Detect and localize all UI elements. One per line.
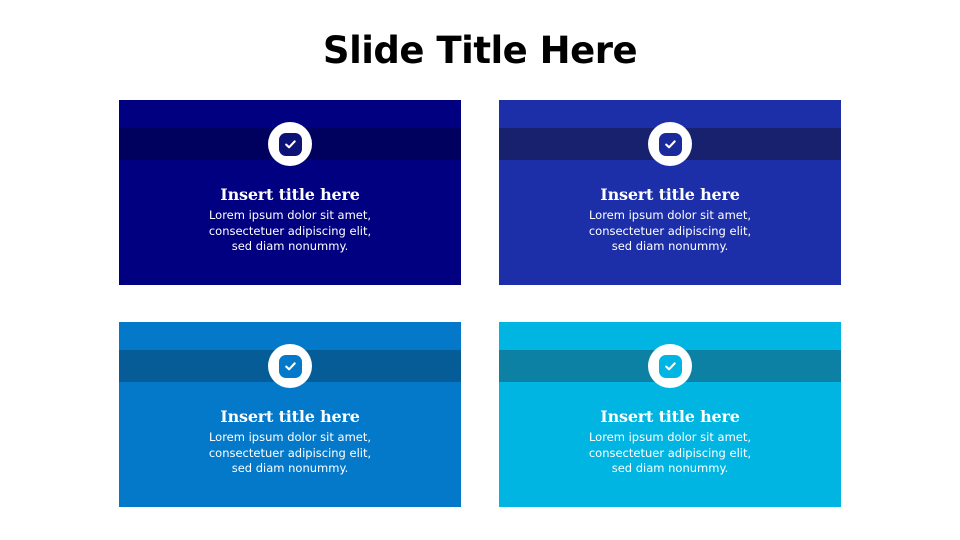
card-desc-line-1: Lorem ipsum dolor sit amet, bbox=[137, 208, 443, 224]
card-desc-line-3: sed diam nonummy. bbox=[517, 461, 823, 477]
cards-grid: Insert title here Lorem ipsum dolor sit … bbox=[119, 100, 841, 507]
card-desc-line-2: consectetuer adipiscing elit, bbox=[517, 446, 823, 462]
card-desc-line-1: Lorem ipsum dolor sit amet, bbox=[137, 430, 443, 446]
feature-card-4[interactable]: Insert title here Lorem ipsum dolor sit … bbox=[499, 322, 841, 507]
card-description-1: Lorem ipsum dolor sit amet, consectetuer… bbox=[137, 208, 443, 255]
card-description-2: Lorem ipsum dolor sit amet, consectetuer… bbox=[517, 208, 823, 255]
check-badge-inner-3 bbox=[279, 355, 302, 378]
check-circle-icon-4 bbox=[648, 344, 692, 388]
check-mark-icon-3 bbox=[284, 360, 297, 373]
slide-canvas: Slide Title Here Insert title here Lorem… bbox=[0, 0, 960, 540]
card-desc-line-2: consectetuer adipiscing elit, bbox=[517, 224, 823, 240]
card-desc-line-1: Lorem ipsum dolor sit amet, bbox=[517, 208, 823, 224]
check-badge-inner-1 bbox=[279, 133, 302, 156]
check-circle-icon-2 bbox=[648, 122, 692, 166]
check-circle-icon-1 bbox=[268, 122, 312, 166]
card-text-block-2: Insert title here Lorem ipsum dolor sit … bbox=[499, 184, 841, 255]
card-text-block-1: Insert title here Lorem ipsum dolor sit … bbox=[119, 184, 461, 255]
card-desc-line-3: sed diam nonummy. bbox=[517, 239, 823, 255]
check-mark-icon-1 bbox=[284, 138, 297, 151]
card-title-4: Insert title here bbox=[517, 406, 823, 427]
page-title: Slide Title Here bbox=[0, 28, 960, 74]
check-badge-inner-2 bbox=[659, 133, 682, 156]
card-title-1: Insert title here bbox=[137, 184, 443, 205]
card-title-3: Insert title here bbox=[137, 406, 443, 427]
card-title-2: Insert title here bbox=[517, 184, 823, 205]
feature-card-3[interactable]: Insert title here Lorem ipsum dolor sit … bbox=[119, 322, 461, 507]
card-description-3: Lorem ipsum dolor sit amet, consectetuer… bbox=[137, 430, 443, 477]
check-mark-icon-4 bbox=[664, 360, 677, 373]
feature-card-1[interactable]: Insert title here Lorem ipsum dolor sit … bbox=[119, 100, 461, 285]
card-desc-line-3: sed diam nonummy. bbox=[137, 239, 443, 255]
feature-card-2[interactable]: Insert title here Lorem ipsum dolor sit … bbox=[499, 100, 841, 285]
card-desc-line-1: Lorem ipsum dolor sit amet, bbox=[517, 430, 823, 446]
check-circle-icon-3 bbox=[268, 344, 312, 388]
card-desc-line-3: sed diam nonummy. bbox=[137, 461, 443, 477]
check-mark-icon-2 bbox=[664, 138, 677, 151]
card-desc-line-2: consectetuer adipiscing elit, bbox=[137, 446, 443, 462]
card-desc-line-2: consectetuer adipiscing elit, bbox=[137, 224, 443, 240]
card-text-block-3: Insert title here Lorem ipsum dolor sit … bbox=[119, 406, 461, 477]
card-description-4: Lorem ipsum dolor sit amet, consectetuer… bbox=[517, 430, 823, 477]
card-text-block-4: Insert title here Lorem ipsum dolor sit … bbox=[499, 406, 841, 477]
check-badge-inner-4 bbox=[659, 355, 682, 378]
